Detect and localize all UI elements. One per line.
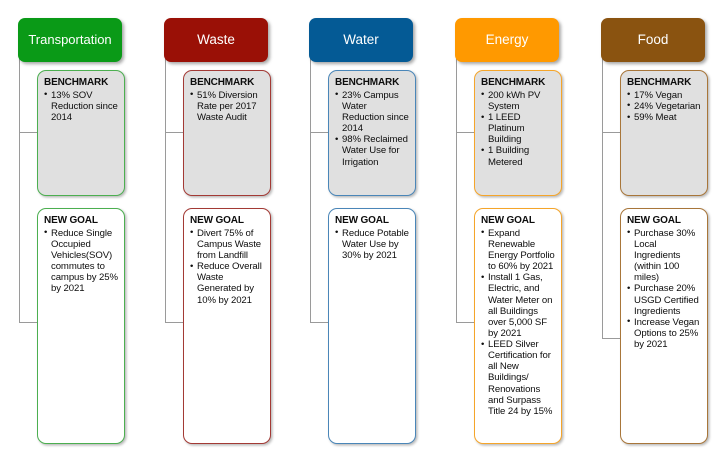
header-label-food: Food xyxy=(638,33,669,48)
column-food: Food BENCHMARK 17% Vegan 24% Vegetarian … xyxy=(583,0,720,461)
benchmark-title: BENCHMARK xyxy=(335,77,411,89)
list-item: 51% Diversion Rate per 2017 Waste Audit xyxy=(190,90,266,123)
connector-branch-new-goal xyxy=(602,338,621,339)
benchmark-card-water: BENCHMARK 23% Campus Water Reduction sin… xyxy=(328,70,416,196)
new-goal-title: NEW GOAL xyxy=(481,215,557,227)
new-goal-title: NEW GOAL xyxy=(627,215,703,227)
list-item: 24% Vegetarian xyxy=(627,101,703,112)
list-item: 59% Meat xyxy=(627,112,703,123)
list-item: 13% SOV Reduction since 2014 xyxy=(44,90,120,123)
connector-branch-benchmark xyxy=(602,132,621,133)
new-goal-title: NEW GOAL xyxy=(190,215,266,227)
new-goal-bullet-list: Reduce Potable Water Use by 30% by 2021 xyxy=(335,228,411,261)
list-item: 1 Building Metered xyxy=(481,145,557,167)
list-item: Reduce Overall Waste Generated by 10% by… xyxy=(190,261,266,306)
connector-vertical-line xyxy=(310,52,311,323)
list-item: 200 kWh PV System xyxy=(481,90,557,112)
header-label-waste: Waste xyxy=(197,33,235,48)
header-pill-food[interactable]: Food xyxy=(601,18,705,62)
connector-branch-new-goal xyxy=(19,322,38,323)
header-pill-energy[interactable]: Energy xyxy=(455,18,559,62)
benchmark-card-food: BENCHMARK 17% Vegan 24% Vegetarian 59% M… xyxy=(620,70,708,196)
benchmark-card-transportation: BENCHMARK 13% SOV Reduction since 2014 xyxy=(37,70,125,196)
new-goal-card-waste: NEW GOAL Divert 75% of Campus Waste from… xyxy=(183,208,271,444)
list-item: Divert 75% of Campus Waste from Landfill xyxy=(190,228,266,261)
new-goal-bullet-list: Divert 75% of Campus Waste from Landfill… xyxy=(190,228,266,306)
new-goal-title: NEW GOAL xyxy=(44,215,120,227)
new-goal-bullet-list: Expand Renewable Energy Portfolio to 60%… xyxy=(481,228,557,417)
new-goal-bullet-list: Reduce Single Occupied Vehicles(SOV) com… xyxy=(44,228,120,295)
new-goal-title: NEW GOAL xyxy=(335,215,411,227)
connector-branch-benchmark xyxy=(165,132,184,133)
column-transportation: Transportation BENCHMARK 13% SOV Reducti… xyxy=(0,0,137,461)
header-label-transportation: Transportation xyxy=(28,33,111,47)
benchmark-card-waste: BENCHMARK 51% Diversion Rate per 2017 Wa… xyxy=(183,70,271,196)
connector-vertical-line xyxy=(456,52,457,323)
new-goal-bullet-list: Purchase 30% Local Ingredients (within 1… xyxy=(627,228,703,350)
new-goal-card-food: NEW GOAL Purchase 30% Local Ingredients … xyxy=(620,208,708,444)
new-goal-card-transportation: NEW GOAL Reduce Single Occupied Vehicles… xyxy=(37,208,125,444)
column-energy: Energy BENCHMARK 200 kWh PV System 1 LEE… xyxy=(437,0,574,461)
list-item: 23% Campus Water Reduction since 2014 xyxy=(335,90,411,135)
header-pill-waste[interactable]: Waste xyxy=(164,18,268,62)
list-item: Increase Vegan Options to 25% by 2021 xyxy=(627,317,703,350)
benchmark-title: BENCHMARK xyxy=(627,77,703,89)
benchmark-title: BENCHMARK xyxy=(481,77,557,89)
connector-vertical-line xyxy=(165,52,166,323)
benchmark-title: BENCHMARK xyxy=(44,77,120,89)
connector-branch-new-goal xyxy=(165,322,184,323)
benchmark-bullet-list: 51% Diversion Rate per 2017 Waste Audit xyxy=(190,90,266,123)
list-item: Purchase 20% USGD Certified Ingredients xyxy=(627,283,703,316)
list-item: 98% Reclaimed Water Use for Irrigation xyxy=(335,134,411,167)
list-item: Reduce Potable Water Use by 30% by 2021 xyxy=(335,228,411,261)
benchmark-bullet-list: 17% Vegan 24% Vegetarian 59% Meat xyxy=(627,90,703,123)
connector-vertical-line xyxy=(602,52,603,339)
benchmark-bullet-list: 23% Campus Water Reduction since 2014 98… xyxy=(335,90,411,168)
connector-vertical-line xyxy=(19,52,20,323)
header-label-energy: Energy xyxy=(486,33,529,48)
benchmark-bullet-list: 200 kWh PV System 1 LEED Platinum Buildi… xyxy=(481,90,557,168)
header-label-water: Water xyxy=(343,33,379,48)
header-pill-water[interactable]: Water xyxy=(309,18,413,62)
list-item: 17% Vegan xyxy=(627,90,703,101)
list-item: Install 1 Gas, Electric, and Water Meter… xyxy=(481,272,557,339)
column-water: Water BENCHMARK 23% Campus Water Reducti… xyxy=(291,0,428,461)
list-item: 1 LEED Platinum Building xyxy=(481,112,557,145)
new-goal-card-energy: NEW GOAL Expand Renewable Energy Portfol… xyxy=(474,208,562,444)
connector-branch-benchmark xyxy=(19,132,38,133)
connector-branch-new-goal xyxy=(456,322,475,323)
column-waste: Waste BENCHMARK 51% Diversion Rate per 2… xyxy=(146,0,283,461)
benchmark-card-energy: BENCHMARK 200 kWh PV System 1 LEED Plati… xyxy=(474,70,562,196)
new-goal-card-water: NEW GOAL Reduce Potable Water Use by 30%… xyxy=(328,208,416,444)
connector-branch-benchmark xyxy=(456,132,475,133)
header-pill-transportation[interactable]: Transportation xyxy=(18,18,122,62)
benchmark-bullet-list: 13% SOV Reduction since 2014 xyxy=(44,90,120,123)
sustainability-goals-diagram: Transportation BENCHMARK 13% SOV Reducti… xyxy=(0,0,725,461)
list-item: Expand Renewable Energy Portfolio to 60%… xyxy=(481,228,557,273)
connector-branch-benchmark xyxy=(310,132,329,133)
benchmark-title: BENCHMARK xyxy=(190,77,266,89)
list-item: Purchase 30% Local Ingredients (within 1… xyxy=(627,228,703,284)
list-item: Reduce Single Occupied Vehicles(SOV) com… xyxy=(44,228,120,295)
connector-branch-new-goal xyxy=(310,322,329,323)
list-item: LEED Silver Certification for all New Bu… xyxy=(481,339,557,417)
